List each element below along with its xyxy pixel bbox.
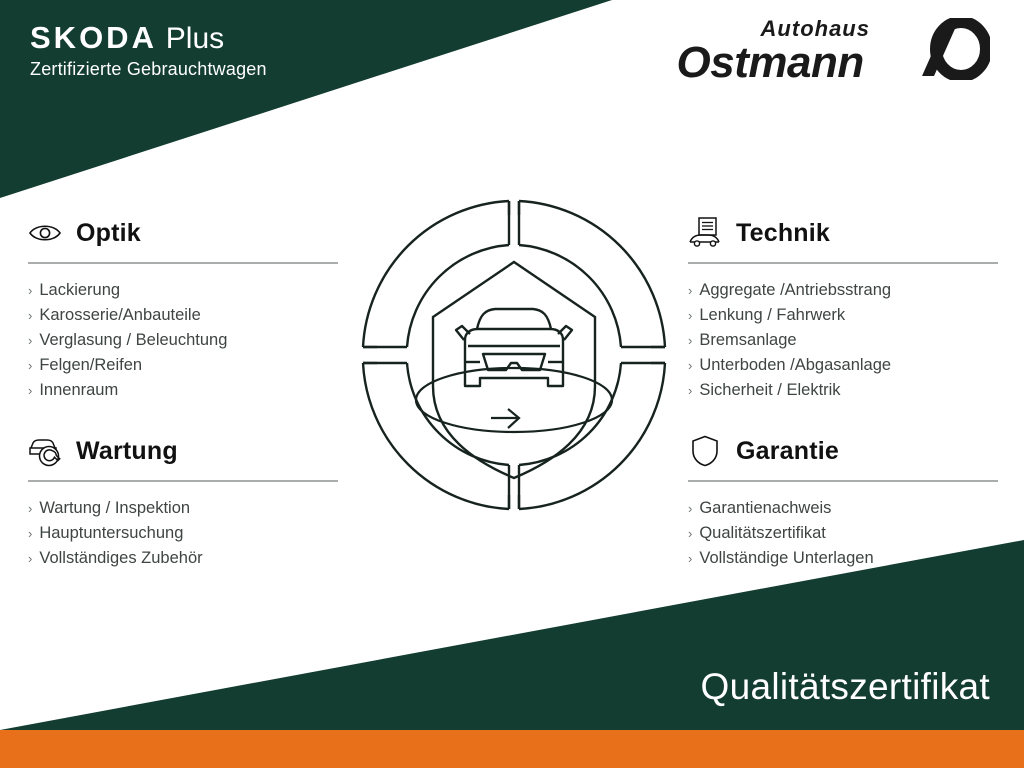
certificate-page: SKODA Plus Zertifizierte Gebrauchtwagen …: [0, 0, 1024, 768]
car-shield-360-icon: [352, 190, 676, 520]
chevron-right-icon: ›: [28, 334, 32, 347]
list-item-label: Bremsanlage: [699, 328, 796, 353]
list-item: ›Garantienachweis: [688, 496, 998, 521]
list-item-label: Aggregate /Antriebsstrang: [699, 278, 891, 303]
list-item: ›Qualitätszertifikat: [688, 521, 998, 546]
car-wrench-icon: [28, 434, 62, 468]
brand-tagline: Zertifizierte Gebrauchtwagen: [30, 59, 267, 80]
list-item-label: Wartung / Inspektion: [39, 496, 190, 521]
car-document-icon: [688, 216, 722, 250]
section-title: Wartung: [76, 437, 178, 466]
section-title: Technik: [736, 219, 830, 248]
chevron-right-icon: ›: [688, 309, 692, 322]
shield-icon: [688, 434, 722, 468]
section-list: ›Garantienachweis ›Qualitätszertifikat ›…: [688, 496, 998, 571]
dealer-logo: Autohaus Ostmann: [677, 18, 990, 85]
list-item-label: Sicherheit / Elektrik: [699, 378, 840, 403]
chevron-right-icon: ›: [28, 552, 32, 565]
brand-suffix: Plus: [166, 22, 224, 55]
dealer-top-label: Autohaus: [761, 18, 870, 40]
section-header: Wartung: [28, 428, 338, 474]
section-divider: [28, 262, 338, 264]
chevron-right-icon: ›: [28, 384, 32, 397]
list-item-label: Vollständige Unterlagen: [699, 546, 873, 571]
list-item: ›Unterboden /Abgasanlage: [688, 353, 998, 378]
section-header: Garantie: [688, 428, 998, 474]
section-title: Optik: [76, 219, 141, 248]
list-item: ›Vollständiges Zubehör: [28, 546, 338, 571]
chevron-right-icon: ›: [688, 284, 692, 297]
chevron-right-icon: ›: [688, 384, 692, 397]
section-garantie: Garantie ›Garantienachweis ›Qualitätszer…: [688, 428, 998, 571]
section-list: ›Lackierung ›Karosserie/Anbauteile ›Verg…: [28, 278, 338, 403]
chevron-right-icon: ›: [28, 284, 32, 297]
list-item-label: Lenkung / Fahrwerk: [699, 303, 845, 328]
section-divider: [688, 480, 998, 482]
chevron-right-icon: ›: [28, 527, 32, 540]
list-item-label: Qualitätszertifikat: [699, 521, 826, 546]
chevron-right-icon: ›: [688, 334, 692, 347]
brand-name: SKODA: [30, 20, 157, 55]
list-item: ›Karosserie/Anbauteile: [28, 303, 338, 328]
dealer-monogram-icon: [880, 18, 990, 85]
chevron-right-icon: ›: [28, 309, 32, 322]
orange-accent-bar: [0, 730, 1024, 768]
list-item-label: Verglasung / Beleuchtung: [39, 328, 227, 353]
section-list: ›Aggregate /Antriebsstrang ›Lenkung / Fa…: [688, 278, 998, 403]
list-item-label: Unterboden /Abgasanlage: [699, 353, 891, 378]
section-title: Garantie: [736, 437, 839, 466]
list-item: ›Wartung / Inspektion: [28, 496, 338, 521]
list-item: ›Aggregate /Antriebsstrang: [688, 278, 998, 303]
section-header: Optik: [28, 210, 338, 256]
section-divider: [28, 480, 338, 482]
list-item: ›Felgen/Reifen: [28, 353, 338, 378]
list-item-label: Garantienachweis: [699, 496, 831, 521]
section-header: Technik: [688, 210, 998, 256]
list-item-label: Vollständiges Zubehör: [39, 546, 202, 571]
list-item: ›Lackierung: [28, 278, 338, 303]
list-item: ›Vollständige Unterlagen: [688, 546, 998, 571]
brand-wordmark: SKODA Plus: [30, 22, 267, 55]
list-item-label: Innenraum: [39, 378, 118, 403]
chevron-right-icon: ›: [688, 552, 692, 565]
chevron-right-icon: ›: [688, 359, 692, 372]
list-item: ›Bremsanlage: [688, 328, 998, 353]
skoda-plus-brand: SKODA Plus Zertifizierte Gebrauchtwagen: [30, 22, 267, 80]
page-title: Qualitätszertifikat: [701, 666, 990, 708]
list-item-label: Lackierung: [39, 278, 120, 303]
chevron-right-icon: ›: [28, 502, 32, 515]
section-list: ›Wartung / Inspektion ›Hauptuntersuchung…: [28, 496, 338, 571]
list-item: ›Sicherheit / Elektrik: [688, 378, 998, 403]
list-item-label: Hauptuntersuchung: [39, 521, 183, 546]
section-divider: [688, 262, 998, 264]
list-item: ›Hauptuntersuchung: [28, 521, 338, 546]
dealer-name: Ostmann: [677, 41, 864, 85]
list-item-label: Felgen/Reifen: [39, 353, 142, 378]
chevron-right-icon: ›: [688, 527, 692, 540]
list-item: ›Verglasung / Beleuchtung: [28, 328, 338, 353]
list-item: ›Innenraum: [28, 378, 338, 403]
list-item: ›Lenkung / Fahrwerk: [688, 303, 998, 328]
section-technik: Technik ›Aggregate /Antriebsstrang ›Lenk…: [688, 210, 998, 403]
list-item-label: Karosserie/Anbauteile: [39, 303, 200, 328]
section-optik: Optik ›Lackierung ›Karosserie/Anbauteile…: [28, 210, 338, 403]
eye-icon: [28, 216, 62, 250]
chevron-right-icon: ›: [28, 359, 32, 372]
section-wartung: Wartung ›Wartung / Inspektion ›Hauptunte…: [28, 428, 338, 571]
chevron-right-icon: ›: [688, 502, 692, 515]
